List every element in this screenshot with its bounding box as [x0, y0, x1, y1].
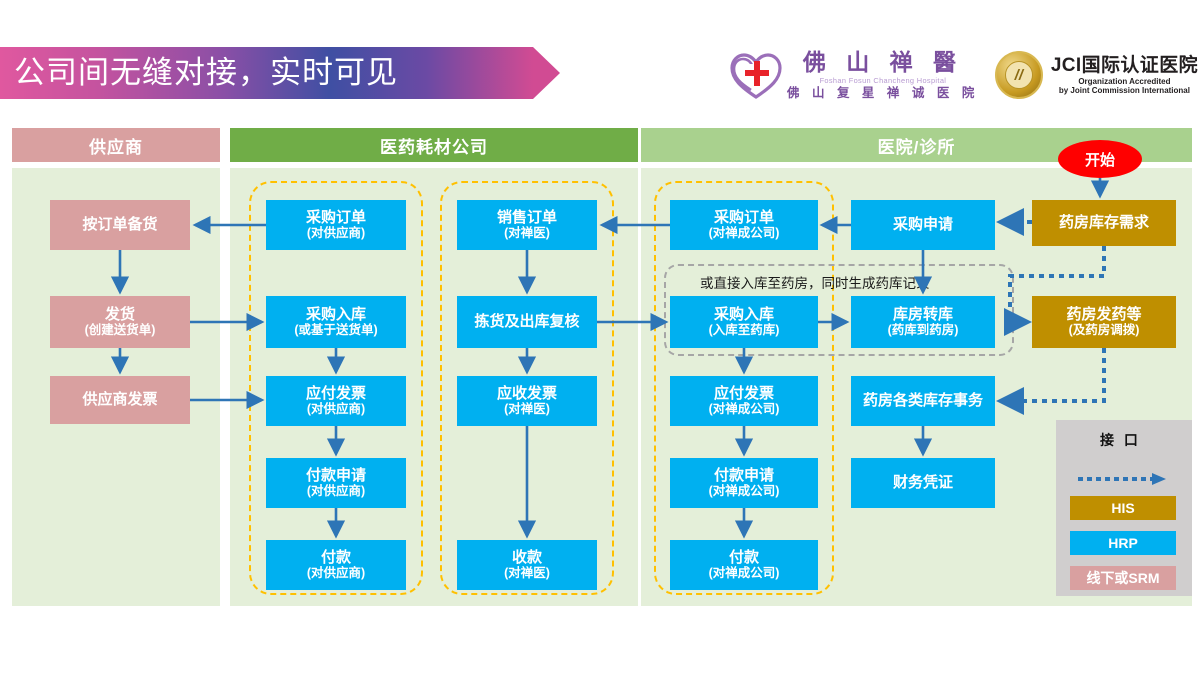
lane-header-distributor-label: 医药耗材公司 [380, 133, 488, 158]
legend-dotted-arrow-icon [1076, 472, 1172, 486]
node-hosp-store-1-title: 库房转库 [893, 307, 953, 324]
node-hosp-store-3: 财务凭证 [851, 458, 995, 508]
hospital-logo-text: 佛 山 禅 醫 Foshan Fosun Chancheng Hospital … [787, 51, 979, 100]
legend-item-hrp-label: HRP [1108, 535, 1138, 551]
legend-item-hrp: HRP [1070, 531, 1176, 555]
node-hosp-purchase-4: 付款 (对禅成公司) [670, 540, 818, 590]
node-dist-sales-3-sub: (对禅医) [504, 566, 550, 580]
node-dist-sales-1-title: 拣货及出库复核 [474, 314, 579, 331]
node-supplier-1-sub: (创建送货单) [85, 323, 156, 337]
node-dist-purchase-1-sub: (或基于送货单) [294, 323, 377, 337]
node-supplier-1-title: 发货 [105, 307, 135, 324]
node-hosp-purchase-2: 应付发票 (对禅成公司) [670, 376, 818, 426]
node-dist-sales-2: 应收发票 (对禅医) [457, 376, 597, 426]
node-hosp-purchase-2-sub: (对禅成公司) [709, 402, 780, 416]
lane-header-distributor: 医药耗材公司 [230, 128, 638, 162]
node-supplier-0-title: 按订单备货 [82, 217, 157, 234]
node-hosp-store-1: 库房转库 (药库到药房) [851, 296, 995, 348]
node-hosp-store-3-title: 财务凭证 [893, 475, 953, 492]
node-hosp-purchase-1-title: 采购入库 [714, 307, 774, 324]
node-hosp-purchase-0: 采购订单 (对禅成公司) [670, 200, 818, 250]
node-dist-sales-0-title: 销售订单 [497, 210, 557, 227]
node-his-1-title: 药房发药等 [1066, 307, 1141, 324]
node-dist-sales-2-sub: (对禅医) [504, 402, 550, 416]
legend-item-his: HIS [1070, 496, 1176, 520]
banner-arrow-tip [533, 47, 560, 99]
gold-seal-icon: // [995, 51, 1043, 99]
lane-header-supplier: 供应商 [12, 128, 220, 162]
node-dist-sales-3-title: 收款 [512, 550, 542, 567]
node-his-1: 药房发药等 (及药房调拨) [1032, 296, 1176, 348]
hospital-name-en: Foshan Fosun Chancheng Hospital [820, 77, 947, 84]
pharmacy-note: 或直接入库至药房，同时生成药库记录 [700, 272, 930, 292]
node-his-0: 药房库存需求 [1032, 200, 1176, 246]
node-supplier-2-title: 供应商发票 [82, 392, 157, 409]
node-dist-purchase-3-sub: (对供应商) [307, 484, 365, 498]
node-dist-purchase-4: 付款 (对供应商) [266, 540, 406, 590]
node-dist-purchase-3: 付款申请 (对供应商) [266, 458, 406, 508]
node-hosp-purchase-3-sub: (对禅成公司) [709, 484, 780, 498]
jci-line1: Organization Accredited [1051, 77, 1198, 86]
node-hosp-store-0-title: 采购申请 [893, 217, 953, 234]
jci-line2: by Joint Commission International [1051, 86, 1198, 95]
node-hosp-purchase-4-title: 付款 [729, 550, 759, 567]
node-dist-purchase-0: 采购订单 (对供应商) [266, 200, 406, 250]
node-hosp-purchase-1: 采购入库 (入库至药库) [670, 296, 818, 348]
node-hosp-purchase-3-title: 付款申请 [714, 468, 774, 485]
lane-header-supplier-label: 供应商 [89, 133, 143, 158]
node-hosp-purchase-1-sub: (入库至药库) [709, 323, 780, 337]
node-dist-purchase-1-title: 采购入库 [306, 307, 366, 324]
node-hosp-purchase-0-sub: (对禅成公司) [709, 226, 780, 240]
slide-canvas: 公司间无缝对接，实时可见 佛 山 禅 醫 Foshan Fosun Chanch… [0, 0, 1204, 677]
node-dist-purchase-2-sub: (对供应商) [307, 402, 365, 416]
legend-item-his-label: HIS [1111, 500, 1134, 516]
jci-title: JCI国际认证医院 [1051, 55, 1198, 77]
node-dist-sales-0-sub: (对禅医) [504, 226, 550, 240]
node-hosp-store-2-title: 药房各类库存事务 [863, 393, 983, 410]
node-dist-purchase-0-sub: (对供应商) [307, 226, 365, 240]
node-hosp-purchase-4-sub: (对禅成公司) [709, 566, 780, 580]
node-his-0-title: 药房库存需求 [1059, 215, 1149, 232]
node-dist-purchase-4-sub: (对供应商) [307, 566, 365, 580]
legend-title: 接 口 [1100, 430, 1141, 450]
title-banner: 公司间无缝对接，实时可见 [0, 47, 560, 99]
start-node-label: 开始 [1085, 149, 1115, 170]
hospital-name-cn: 佛 山 禅 醫 [803, 51, 963, 74]
node-hosp-store-0: 采购申请 [851, 200, 995, 250]
node-hosp-purchase-3: 付款申请 (对禅成公司) [670, 458, 818, 508]
node-dist-sales-0: 销售订单 (对禅医) [457, 200, 597, 250]
jci-logo-text: JCI国际认证医院 Organization Accredited by Joi… [1051, 55, 1198, 95]
hospital-logo: 佛 山 禅 醫 Foshan Fosun Chancheng Hospital … [729, 50, 979, 100]
node-dist-purchase-1: 采购入库 (或基于送货单) [266, 296, 406, 348]
jci-logo: // JCI国际认证医院 Organization Accredited by … [995, 51, 1198, 99]
node-dist-sales-2-title: 应收发票 [497, 386, 557, 403]
node-dist-purchase-0-title: 采购订单 [306, 210, 366, 227]
node-hosp-store-2: 药房各类库存事务 [851, 376, 995, 426]
page-title: 公司间无缝对接，实时可见 [14, 47, 398, 99]
node-dist-purchase-2-title: 应付发票 [306, 386, 366, 403]
node-dist-sales-1: 拣货及出库复核 [457, 296, 597, 348]
node-supplier-0: 按订单备货 [50, 200, 190, 250]
node-hosp-purchase-2-title: 应付发票 [714, 386, 774, 403]
node-hosp-purchase-0-title: 采购订单 [714, 210, 774, 227]
node-his-1-sub: (及药房调拨) [1069, 323, 1140, 337]
logo-group: 佛 山 禅 醫 Foshan Fosun Chancheng Hospital … [729, 44, 1198, 106]
node-supplier-1: 发货 (创建送货单) [50, 296, 190, 348]
node-dist-purchase-2: 应付发票 (对供应商) [266, 376, 406, 426]
start-node: 开始 [1058, 140, 1142, 178]
heart-cross-icon [729, 50, 783, 100]
node-dist-purchase-3-title: 付款申请 [306, 468, 366, 485]
lane-header-hospital-label: 医院/诊所 [878, 133, 956, 158]
node-supplier-2: 供应商发票 [50, 376, 190, 424]
node-dist-purchase-4-title: 付款 [321, 550, 351, 567]
hospital-name-cn2: 佛 山 复 星 禅 诚 医 院 [787, 87, 979, 100]
node-hosp-store-1-sub: (药库到药房) [888, 323, 959, 337]
legend-item-srm: 线下或SRM [1070, 566, 1176, 590]
node-dist-sales-3: 收款 (对禅医) [457, 540, 597, 590]
legend-item-srm-label: 线下或SRM [1086, 568, 1159, 588]
